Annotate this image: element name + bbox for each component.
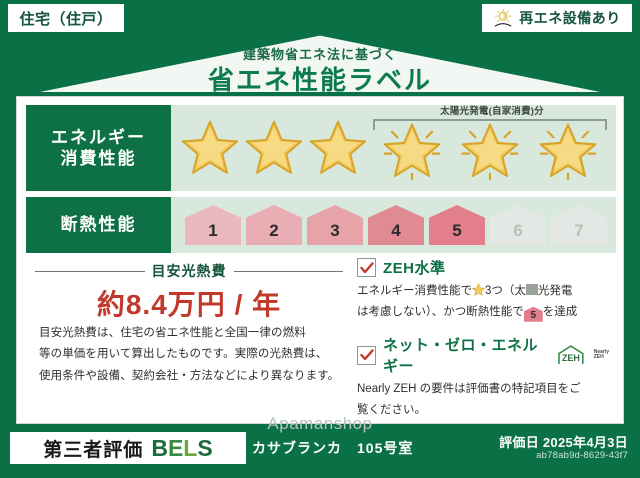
bels-letter: E [168, 435, 183, 461]
bels-letter: L [183, 435, 197, 461]
sun-icon [493, 8, 515, 28]
star-icon [472, 283, 485, 296]
divider-left [35, 271, 145, 272]
zeh-body-part4: は考慮しない）、かつ断熱性能で [357, 306, 524, 318]
unit-name: カサブランカ 105号室 [252, 438, 413, 458]
energy-label-line1: エネルギー [51, 127, 146, 148]
insulation-performance-label: 断熱性能 [26, 197, 171, 253]
insulation-level-badge: 5 [429, 205, 485, 245]
evaluation-id: ab78ab9d-8629-43f7 [536, 450, 628, 461]
bels-logo-block: 第三者評価 BELS [10, 432, 246, 464]
energy-performance-row: エネルギー 消費性能 太陽光発電(自家消費)分 [26, 105, 616, 191]
utility-cost-note-line: 使用条件や設備、契約会社・方法などにより異なります。 [39, 366, 341, 387]
redacted-box [526, 284, 538, 295]
checkbox-checked-icon [357, 346, 376, 365]
insulation-level-badge: 2 [246, 205, 302, 245]
bels-letter: S [197, 435, 212, 461]
divider-right [234, 271, 344, 272]
star-solar-icon [457, 119, 523, 181]
category-badge-label: 住宅（住戸） [19, 8, 112, 29]
renewable-badge: 再エネ設備あり [482, 4, 632, 32]
zeh-body-part5: を達成 [543, 306, 578, 318]
star-solar-icon [379, 119, 445, 181]
energy-performance-label: エネルギー 消費性能 [26, 105, 171, 191]
energy-star-rating: 太陽光発電(自家消費)分 [171, 105, 616, 191]
zeh-standard-title: ZEH水準 [357, 257, 609, 278]
label-card: エネルギー 消費性能 太陽光発電(自家消費)分 [16, 96, 624, 424]
svg-text:ZEH: ZEH [562, 353, 580, 363]
insulation-level-badge: 7 [551, 205, 607, 245]
zeh-logo-subtext: Nearly ZEH [594, 350, 609, 361]
insulation-level-badge: 1 [185, 205, 241, 245]
net-zero-energy-title-text: ネット・ゼロ・エネルギー [383, 334, 546, 376]
insulation-level-scale: 1 2 3 4 5 6 7 [171, 197, 616, 253]
insulation-level-badge: 4 [368, 205, 424, 245]
insulation-level-badge: 3 [307, 205, 363, 245]
star-icon [181, 119, 239, 175]
insulation-label-text: 断熱性能 [61, 214, 137, 235]
utility-cost-note-line: 等の単価を用いて算出したものです。実際の光熱費は、 [39, 344, 341, 365]
bels-logo: BELS [151, 435, 212, 462]
third-party-label: 第三者評価 [43, 435, 143, 462]
bels-energy-label: 住宅（住戸） 再エネ設備あり 建築物省エネ法に基づく 省エネ性能ラベル エネルギ [0, 0, 640, 478]
utility-cost-value: 約8.4万円 / 年 [35, 283, 343, 323]
checkbox-checked-icon [357, 258, 376, 277]
certification-block: ZEH水準 エネルギー消費性能で3つ（太光発電は考慮しない）、かつ断熱性能で5を… [357, 257, 609, 433]
renewable-badge-label: 再エネ設備あり [519, 8, 621, 28]
utility-cost-heading: 目安光熱費 [35, 261, 343, 281]
zeh-standard-body: エネルギー消費性能で3つ（太光発電は考慮しない）、かつ断熱性能で5を達成 [357, 281, 609, 322]
insulation-performance-row: 断熱性能 1 2 3 4 5 6 7 [26, 197, 616, 253]
net-zero-energy-title: ネット・ゼロ・エネルギー ZEH Nearly ZEH [357, 334, 609, 376]
energy-label-line2: 消費性能 [61, 148, 137, 169]
utility-cost-note: 目安光熱費は、住宅の省エネ性能と全国一律の燃料 等の単価を用いて算出したものです… [39, 323, 341, 387]
insulation-level-badge: 6 [490, 205, 546, 245]
insulation-level-inline-badge: 5 [524, 307, 543, 322]
evaluation-date: 評価日 2025年4月3日 [499, 432, 628, 451]
zeh-body-part2: 3つ（太 [485, 285, 526, 297]
zeh-body-part3: 光発電 [538, 285, 573, 297]
zeh-body-part1: エネルギー消費性能で [357, 285, 472, 297]
footer: 第三者評価 BELS カサブランカ 105号室 評価日 2025年4月3日 ab… [0, 430, 640, 478]
zeh-house-logo-icon: ZEH [556, 343, 586, 367]
utility-cost-note-line: 目安光熱費は、住宅の省エネ性能と全国一律の燃料 [39, 323, 341, 344]
star-solar-icon [535, 119, 601, 181]
star-icon [309, 119, 367, 175]
label-title: 省エネ性能ラベル [0, 60, 640, 97]
solar-caption: 太陽光発電(自家消費)分 [367, 103, 617, 117]
utility-cost-heading-text: 目安光熱費 [152, 261, 227, 281]
category-badge: 住宅（住戸） [8, 4, 124, 32]
zeh-standard-title-text: ZEH水準 [383, 257, 446, 278]
star-icon [245, 119, 303, 175]
bels-letter: B [151, 435, 168, 461]
net-zero-body-line1: Nearly ZEH の要件は評価書の特記項目をご [357, 383, 581, 395]
zeh-logo-sub-line2: ZEH [594, 354, 604, 360]
